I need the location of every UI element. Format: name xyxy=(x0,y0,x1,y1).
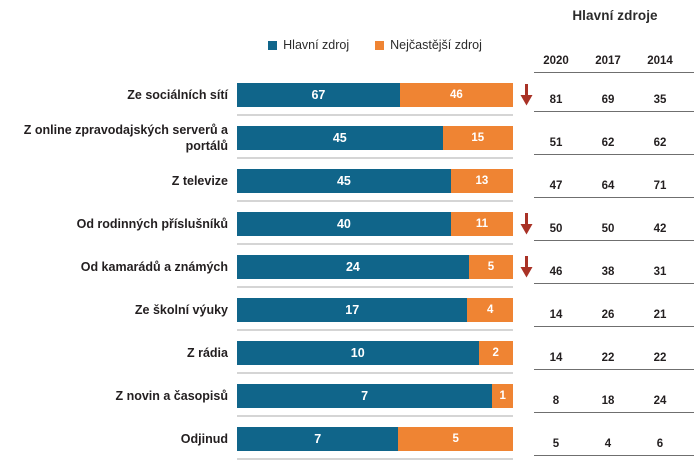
table-cell-2017: 38 xyxy=(586,266,630,278)
bar-value-label: 7 xyxy=(314,432,321,446)
bar-value-label: 45 xyxy=(333,131,347,145)
table-row-rule xyxy=(534,111,694,112)
legend-item-nejcastejsi-zdroj: Nejčastější zdroj xyxy=(375,38,482,52)
stacked-bar[interactable]: 6746 xyxy=(237,83,513,107)
table-cell-2014: 21 xyxy=(638,309,682,321)
bar-value-label: 40 xyxy=(337,217,351,231)
down-arrow-icon xyxy=(518,80,534,110)
bar-segment-most[interactable]: 11 xyxy=(451,212,513,236)
bar-value-label: 24 xyxy=(346,260,360,274)
table-cell-2020: 5 xyxy=(534,438,578,450)
category-label: Od rodinných příslušníků xyxy=(0,203,228,246)
table-cell-2020: 51 xyxy=(534,137,578,149)
table-row: 546 xyxy=(534,418,700,461)
table-header-rule xyxy=(534,72,694,73)
bar-value-label: 46 xyxy=(450,89,463,101)
bar-segment-most[interactable]: 46 xyxy=(400,83,513,107)
bar-segment-main[interactable]: 7 xyxy=(237,427,398,451)
row-gridline xyxy=(237,157,513,159)
stacked-bar[interactable]: 75 xyxy=(237,427,513,451)
bar-value-label: 15 xyxy=(471,132,484,144)
bar-segment-most[interactable]: 5 xyxy=(469,255,513,279)
chart-row: Z novin a časopisů7181824 xyxy=(0,375,700,418)
chart-rows: Ze sociálních sítí6746816935Z online zpr… xyxy=(0,74,700,461)
chart-row: Z televize4513476471 xyxy=(0,160,700,203)
bar-segment-main[interactable]: 40 xyxy=(237,212,451,236)
stacked-bar[interactable]: 71 xyxy=(237,384,513,408)
chart-row: Od rodinných příslušníků4011505042 xyxy=(0,203,700,246)
category-label: Odjinud xyxy=(0,418,228,461)
stacked-bar[interactable]: 102 xyxy=(237,341,513,365)
bar-segment-main[interactable]: 10 xyxy=(237,341,479,365)
down-arrow-icon xyxy=(518,209,534,239)
row-gridline xyxy=(237,114,513,116)
table-cell-2017: 62 xyxy=(586,137,630,149)
table-cell-2017: 50 xyxy=(586,223,630,235)
stacked-bar[interactable]: 174 xyxy=(237,298,513,322)
chart-row: Z online zpravodajských serverů a portál… xyxy=(0,117,700,160)
bar-segment-most[interactable]: 5 xyxy=(398,427,513,451)
bar-value-label: 11 xyxy=(476,218,488,230)
chart-row: Z rádia102142222 xyxy=(0,332,700,375)
table-row: 816935 xyxy=(534,74,700,117)
bar-segment-main[interactable]: 67 xyxy=(237,83,400,107)
table-cell-2020: 14 xyxy=(534,352,578,364)
legend-label-most: Nejčastější zdroj xyxy=(390,38,482,52)
bar-segment-most[interactable]: 13 xyxy=(451,169,513,193)
table-cell-2017: 69 xyxy=(586,94,630,106)
bar-segment-most[interactable]: 4 xyxy=(467,298,513,322)
category-label: Z televize xyxy=(0,160,228,203)
stacked-bar[interactable]: 4011 xyxy=(237,212,513,236)
table-cell-2020: 8 xyxy=(534,395,578,407)
table-row: 81824 xyxy=(534,375,700,418)
category-label: Ze školní výuky xyxy=(0,289,228,332)
row-gridline xyxy=(237,372,513,374)
table-row-rule xyxy=(534,154,694,155)
table-column-header-2014: 2014 xyxy=(638,55,682,67)
category-label: Z rádia xyxy=(0,332,228,375)
table-cell-2014: 22 xyxy=(638,352,682,364)
chart-legend: Hlavní zdroj Nejčastější zdroj xyxy=(237,38,513,52)
table-cell-2020: 81 xyxy=(534,94,578,106)
table-cell-2017: 22 xyxy=(586,352,630,364)
table-row-rule xyxy=(534,283,694,284)
row-gridline xyxy=(237,200,513,202)
table-row-rule xyxy=(534,412,694,413)
table-row: 476471 xyxy=(534,160,700,203)
table-row-rule xyxy=(534,197,694,198)
bar-segment-main[interactable]: 45 xyxy=(237,126,443,150)
table-cell-2014: 35 xyxy=(638,94,682,106)
bar-segment-main[interactable]: 7 xyxy=(237,384,492,408)
table-title: Hlavní zdroje xyxy=(530,8,700,23)
bar-value-label: 1 xyxy=(499,390,505,402)
bar-value-label: 67 xyxy=(311,88,325,102)
bar-segment-most[interactable]: 2 xyxy=(479,341,514,365)
chart-row: Od kamarádů a známých245463831 xyxy=(0,246,700,289)
bar-segment-most[interactable]: 1 xyxy=(492,384,513,408)
table-cell-2014: 31 xyxy=(638,266,682,278)
table-column-header-2020: 2020 xyxy=(534,55,578,67)
table-cell-2014: 24 xyxy=(638,395,682,407)
table-cell-2020: 47 xyxy=(534,180,578,192)
bar-value-label: 17 xyxy=(345,303,359,317)
row-gridline xyxy=(237,458,513,460)
bar-value-label: 13 xyxy=(476,175,489,187)
bar-segment-main[interactable]: 24 xyxy=(237,255,469,279)
table-row-rule xyxy=(534,240,694,241)
table-row: 505042 xyxy=(534,203,700,246)
table-row-rule xyxy=(534,369,694,370)
table-cell-2014: 6 xyxy=(638,438,682,450)
row-gridline xyxy=(237,286,513,288)
stacked-bar[interactable]: 4515 xyxy=(237,126,513,150)
legend-label-main: Hlavní zdroj xyxy=(283,38,349,52)
table-cell-2014: 71 xyxy=(638,180,682,192)
category-label: Od kamarádů a známých xyxy=(0,246,228,289)
table-row: 142222 xyxy=(534,332,700,375)
category-label: Z novin a časopisů xyxy=(0,375,228,418)
table-cell-2017: 64 xyxy=(586,180,630,192)
table-cell-2017: 4 xyxy=(586,438,630,450)
legend-swatch-icon-most xyxy=(375,41,384,50)
table-cell-2020: 46 xyxy=(534,266,578,278)
table-row: 516262 xyxy=(534,117,700,160)
stacked-bar[interactable]: 245 xyxy=(237,255,513,279)
bar-segment-main[interactable]: 17 xyxy=(237,298,467,322)
bar-value-label: 5 xyxy=(453,433,459,445)
row-gridline xyxy=(237,329,513,331)
bar-value-label: 45 xyxy=(337,174,351,188)
table-cell-2020: 14 xyxy=(534,309,578,321)
table-cell-2017: 18 xyxy=(586,395,630,407)
stacked-bar[interactable]: 4513 xyxy=(237,169,513,193)
bar-segment-most[interactable]: 15 xyxy=(443,126,513,150)
table-header-row: 2020 2017 2014 xyxy=(534,55,700,73)
table-cell-2020: 50 xyxy=(534,223,578,235)
category-label: Ze sociálních sítí xyxy=(0,74,228,117)
bar-value-label: 4 xyxy=(487,304,493,316)
bar-value-label: 2 xyxy=(493,347,499,359)
bar-value-label: 7 xyxy=(361,389,368,403)
table-row-rule xyxy=(534,326,694,327)
down-arrow-icon xyxy=(518,252,534,282)
legend-swatch-icon-main xyxy=(268,41,277,50)
bar-value-label: 5 xyxy=(488,261,494,273)
table-column-header-2017: 2017 xyxy=(586,55,630,67)
table-cell-2017: 26 xyxy=(586,309,630,321)
chart-figure: Hlavní zdroje Hlavní zdroj Nejčastější z… xyxy=(0,0,700,463)
table-cell-2014: 62 xyxy=(638,137,682,149)
chart-row: Odjinud75546 xyxy=(0,418,700,461)
table-cell-2014: 42 xyxy=(638,223,682,235)
category-label: Z online zpravodajských serverů a portál… xyxy=(0,117,228,160)
chart-row: Ze školní výuky174142621 xyxy=(0,289,700,332)
bar-segment-main[interactable]: 45 xyxy=(237,169,451,193)
row-gridline xyxy=(237,243,513,245)
table-row-rule xyxy=(534,455,694,456)
row-gridline xyxy=(237,415,513,417)
bar-value-label: 10 xyxy=(351,346,365,360)
chart-row: Ze sociálních sítí6746816935 xyxy=(0,74,700,117)
table-row: 142621 xyxy=(534,289,700,332)
table-row: 463831 xyxy=(534,246,700,289)
legend-item-hlavni-zdroj: Hlavní zdroj xyxy=(268,38,349,52)
